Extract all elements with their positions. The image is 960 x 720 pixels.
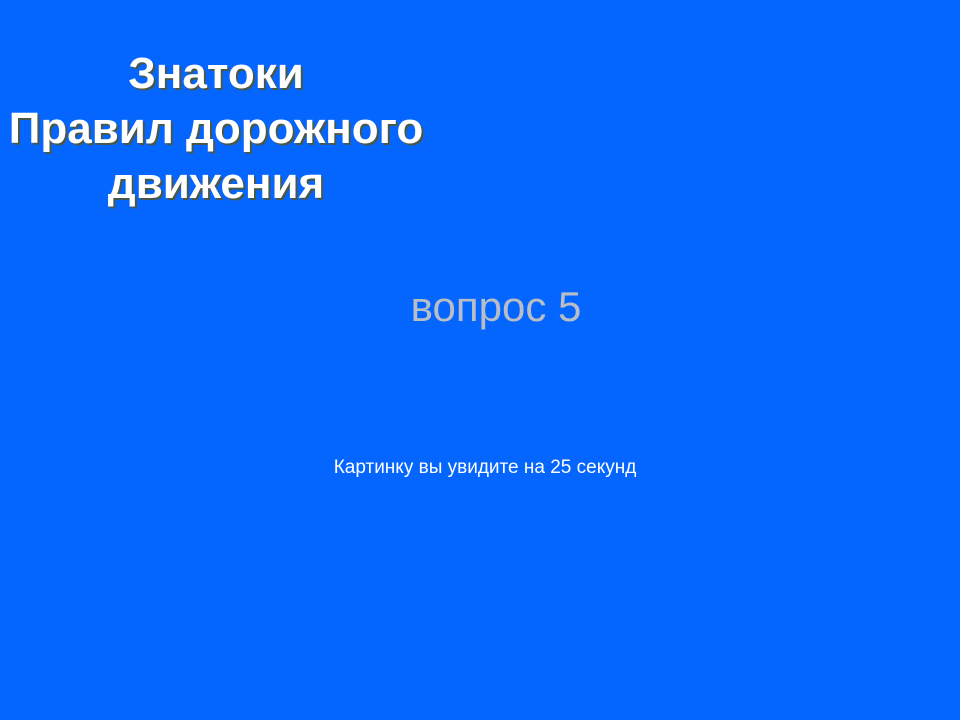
slide-title-line-3: движения	[0, 156, 432, 211]
slide-title-line-1: Знатоки	[0, 46, 432, 101]
presentation-slide: Знатоки Правил дорожного движения вопрос…	[0, 0, 960, 720]
slide-title-line-2: Правил дорожного	[0, 101, 432, 156]
slide-title: Знатоки Правил дорожного движения	[0, 46, 432, 211]
question-label: вопрос 5	[296, 283, 696, 331]
timer-caption: Картинку вы увидите на 25 секунд	[185, 456, 785, 480]
